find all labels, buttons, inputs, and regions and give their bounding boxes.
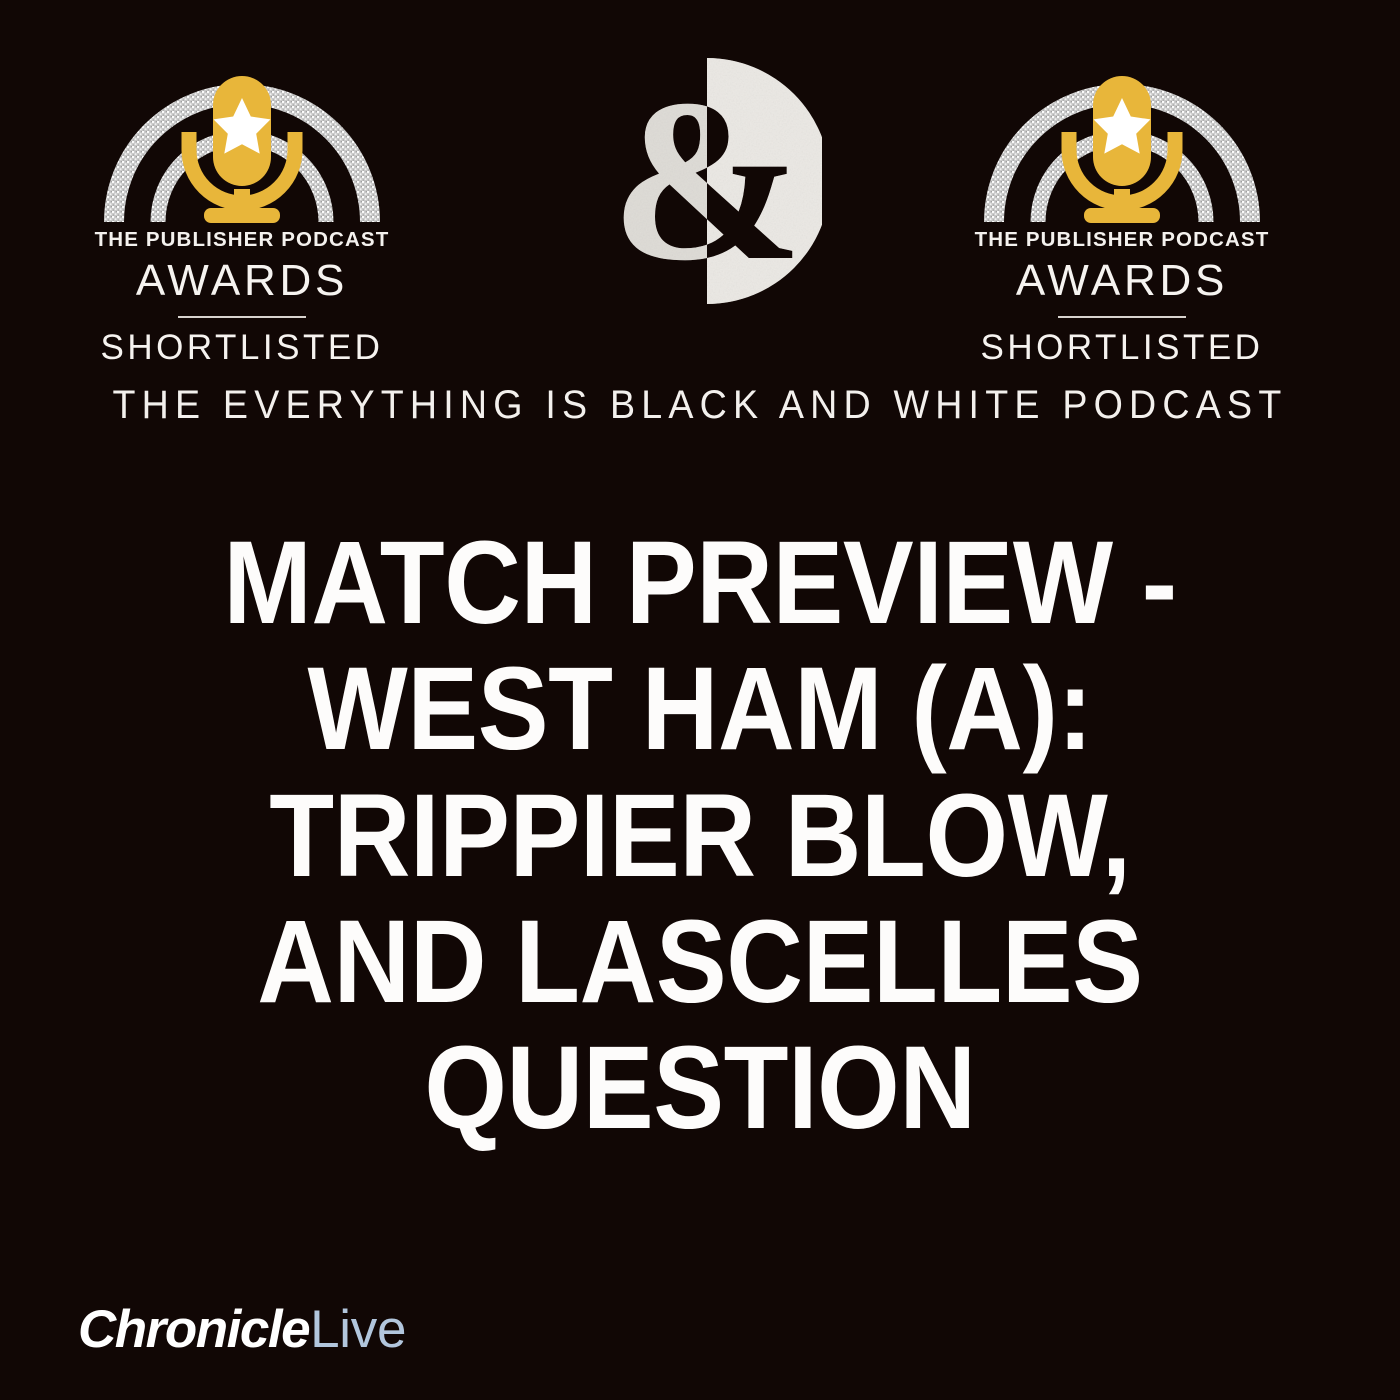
episode-title-line: AND LASCELLES [124,899,1276,1025]
award-badge-line1: THE PUBLISHER PODCAST [92,230,392,251]
show-name: THE EVERYTHING IS BLACK AND WHITE PODCAS… [42,383,1358,428]
brand-name-secondary: Live [310,1300,406,1359]
award-badge-divider [178,316,306,318]
ampersand-logo: & & [592,58,822,304]
award-badge-line1: THE PUBLISHER PODCAST [972,230,1272,251]
award-badge-right: THE PUBLISHER PODCAST AWARDS SHORTLISTED [972,46,1272,346]
award-badge-left: THE PUBLISHER PODCAST AWARDS SHORTLISTED [92,46,392,346]
episode-title: MATCH PREVIEW - WEST HAM (A): TRIPPIER B… [124,520,1276,1151]
episode-title-line: QUESTION [124,1025,1276,1151]
award-badge-line3: SHORTLISTED [972,330,1272,365]
episode-title-line: TRIPPIER BLOW, [124,773,1276,899]
award-badge-line2: AWARDS [972,259,1272,303]
episode-title-line: WEST HAM (A): [124,646,1276,772]
chroniclelive-logo: ChronicleLive [78,1303,406,1356]
award-badge-divider [1058,316,1186,318]
brand-name-primary: Chronicle [78,1300,309,1359]
award-emblem-right [972,46,1272,228]
award-badge-line2: AWARDS [92,259,392,303]
award-emblem-left [92,46,392,228]
episode-title-line: MATCH PREVIEW - [124,520,1276,646]
award-badge-line3: SHORTLISTED [92,330,392,365]
podcast-cover-art: THE PUBLISHER PODCAST AWARDS SHORTLISTED… [0,0,1400,1400]
